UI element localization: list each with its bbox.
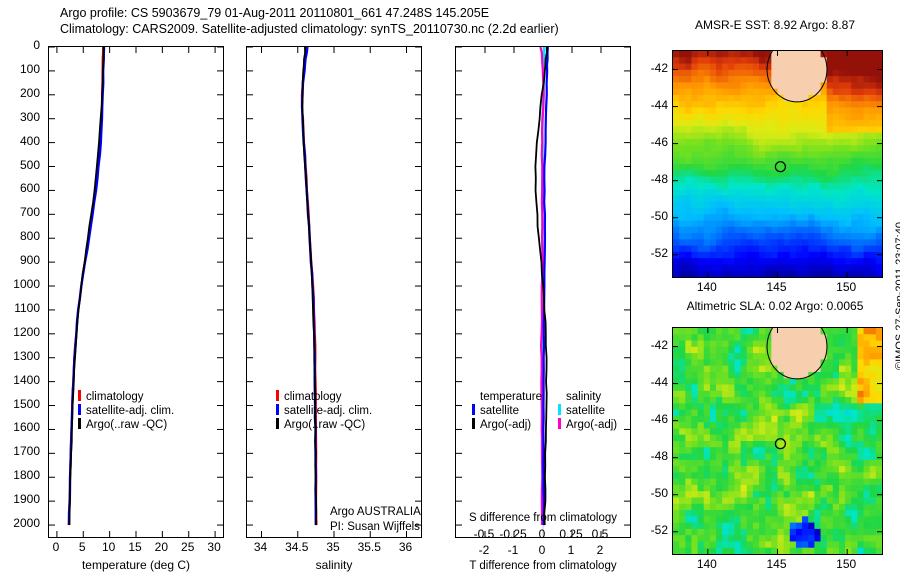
depth-tick-label: 300 (20, 110, 40, 124)
map-lat-tick-label: -48 (651, 172, 668, 186)
temperature-axis-label: temperature (deg C) (48, 558, 224, 572)
legend-item-climatology-sal: climatology (276, 390, 372, 404)
salinity-axis-label: salinity (246, 558, 422, 572)
axis-tick-label: 10 (102, 540, 115, 554)
temperature-xticks: 051015202530 (48, 540, 224, 556)
difference-legend-temperature: temperature satellite Argo(-adj) (472, 390, 542, 432)
axis-tick-label: -1 (508, 543, 519, 557)
depth-tick-label: 0 (33, 38, 40, 52)
legend-swatch-climatology-sal (276, 390, 279, 401)
legend-label-argo-sal: Argo(..raw -QC) (284, 419, 365, 431)
legend-label-satellite-adj: satellite-adj. clim. (86, 405, 174, 417)
legend-swatch-sal-argo (558, 418, 561, 429)
depth-tick-label: 700 (20, 205, 40, 219)
imos-credit: ©IMOS 27-Sep-2011 23:07:40 (894, 370, 900, 382)
legend-item-argo-sal: Argo(..raw -QC) (276, 418, 372, 432)
depth-tick-label: 1700 (13, 444, 40, 458)
legend-item-sal-argo: Argo(-adj) (558, 418, 617, 432)
legend-label-temp-argo: Argo(-adj) (480, 419, 531, 431)
sla-map (672, 327, 883, 555)
sla-map-title: Altimetric SLA: 0.02 Argo: 0.0065 (660, 299, 890, 313)
axis-tick-label: 35 (326, 540, 339, 554)
sst-map (672, 50, 883, 278)
axis-tick-label: 20 (155, 540, 168, 554)
map-lat-tick-label: -52 (651, 246, 668, 260)
legend-item-temp-satellite: satellite (472, 404, 542, 418)
map-lon-tick-label: 150 (836, 557, 856, 571)
legend-item-temp-argo: Argo(-adj) (472, 418, 542, 432)
legend-label-argo: Argo(..raw -QC) (86, 419, 167, 431)
legend-label-climatology-sal: climatology (284, 391, 342, 403)
salinity-panel (246, 46, 422, 538)
argo-australia-credit: Argo AUSTRALIA PI: Susan Wijffels (330, 505, 421, 535)
map-lon-tick-label: 140 (697, 280, 717, 294)
axis-tick-label: -2 (479, 543, 490, 557)
sst-map-xticks: 140145150 (672, 280, 883, 296)
depth-tick-label: 1000 (13, 277, 40, 291)
principal-investigator-label: PI: Susan Wijffels (330, 520, 421, 535)
page-title-line2: Climatology: CARS2009. Satellite-adjuste… (60, 22, 559, 36)
depth-tick-label: 500 (20, 158, 40, 172)
difference-xticks-bottom: -2-1012 (455, 543, 631, 558)
axis-tick-label: 0 (53, 540, 60, 554)
map-lat-tick-label: -46 (651, 135, 668, 149)
map-lat-tick-label: -52 (651, 523, 668, 537)
depth-tick-label: 2000 (13, 516, 40, 530)
legend-swatch-satellite-adj (78, 404, 81, 415)
map-lon-tick-label: 145 (766, 280, 786, 294)
map-lat-tick-label: -50 (651, 486, 668, 500)
depth-tick-label: 800 (20, 229, 40, 243)
imos-credit-text: ©IMOS 27-Sep-2011 23:07:40 (894, 222, 900, 370)
depth-tick-label: 1600 (13, 420, 40, 434)
temperature-legend: climatology satellite-adj. clim. Argo(..… (78, 390, 174, 432)
axis-tick-label: 25 (181, 540, 194, 554)
axis-tick-label: 15 (128, 540, 141, 554)
legend-swatch-satellite-adj-sal (276, 404, 279, 415)
depth-tick-label: 100 (20, 62, 40, 76)
map-lon-tick-label: 150 (836, 280, 856, 294)
map-lat-tick-label: -46 (651, 412, 668, 426)
legend-item-sal-satellite: satellite (558, 404, 617, 418)
axis-tick-label: 0 (539, 543, 546, 557)
axis-tick-label: 0.5 (592, 527, 609, 541)
temperature-depth-ticks: 0100200300400500600700800900100011001200… (0, 46, 46, 538)
sla-map-xticks: 140145150 (672, 557, 883, 573)
depth-tick-label: 1900 (13, 492, 40, 506)
axis-tick-label: 2 (597, 543, 604, 557)
axis-tick-label: 34.5 (285, 540, 308, 554)
legend-label-sal-argo: Argo(-adj) (566, 419, 617, 431)
sst-map-title: AMSR-E SST: 8.92 Argo: 8.87 (660, 18, 890, 32)
temperature-plot-area (49, 47, 223, 537)
legend-swatch-climatology (78, 390, 81, 401)
axis-tick-label: 36 (399, 540, 412, 554)
legend-label-temp-satellite: satellite (480, 405, 519, 417)
difference-legend-salinity: salinity satellite Argo(-adj) (558, 390, 617, 432)
salinity-xticks: 3434.53535.536 (246, 540, 422, 556)
difference-plot-area (456, 47, 630, 537)
temperature-difference-axis-label: T difference from climatology (447, 560, 639, 572)
legend-label-sal-satellite: satellite (566, 405, 605, 417)
axis-tick-label: -0.5 (474, 527, 495, 541)
difference-panel (455, 46, 631, 538)
map-lat-tick-label: -48 (651, 449, 668, 463)
map-lat-tick-label: -42 (651, 338, 668, 352)
legend-label-satellite-adj-sal: satellite-adj. clim. (284, 405, 372, 417)
argo-australia-label: Argo AUSTRALIA (330, 505, 421, 520)
salinity-legend: climatology satellite-adj. clim. Argo(..… (276, 390, 372, 432)
sst-map-yticks: -42-44-46-48-50-52 (640, 50, 670, 278)
axis-tick-label: 34 (254, 540, 267, 554)
legend-swatch-sal-satellite (558, 404, 561, 415)
legend-item-climatology: climatology (78, 390, 174, 404)
difference-xticks-top: -0.5-0.2500.250.5 (455, 527, 631, 542)
map-lat-tick-label: -42 (651, 61, 668, 75)
legend-item-argo: Argo(..raw -QC) (78, 418, 174, 432)
axis-tick-label: 30 (207, 540, 220, 554)
map-lat-tick-label: -50 (651, 209, 668, 223)
depth-tick-label: 1400 (13, 373, 40, 387)
map-lon-tick-label: 145 (766, 557, 786, 571)
legend-swatch-argo (78, 418, 81, 429)
sla-map-yticks: -42-44-46-48-50-52 (640, 327, 670, 555)
axis-tick-label: -0.25 (499, 527, 526, 541)
temperature-panel (48, 46, 224, 538)
depth-tick-label: 1100 (14, 301, 40, 315)
depth-tick-label: 1800 (13, 468, 40, 482)
depth-tick-label: 400 (20, 134, 40, 148)
depth-tick-label: 1200 (13, 325, 40, 339)
sst-map-canvas (673, 51, 882, 277)
depth-tick-label: 900 (20, 253, 40, 267)
legend-label-climatology: climatology (86, 391, 144, 403)
map-lat-tick-label: -44 (651, 375, 668, 389)
map-lat-tick-label: -44 (651, 98, 668, 112)
legend-header-salinity: salinity (566, 390, 617, 404)
legend-swatch-argo-sal (276, 418, 279, 429)
legend-item-satellite-adj-sal: satellite-adj. clim. (276, 404, 372, 418)
page-title-line1: Argo profile: CS 5903679_79 01-Aug-2011 … (60, 6, 489, 20)
map-lon-tick-label: 140 (697, 557, 717, 571)
axis-tick-label: 5 (79, 540, 86, 554)
legend-header-temperature: temperature (480, 390, 542, 404)
depth-tick-label: 1300 (13, 349, 40, 363)
salinity-plot-area (247, 47, 421, 537)
axis-tick-label: 1 (568, 543, 575, 557)
depth-tick-label: 1500 (13, 397, 40, 411)
legend-swatch-temp-argo (472, 418, 475, 429)
axis-tick-label: 0.25 (559, 527, 582, 541)
legend-item-satellite-adj: satellite-adj. clim. (78, 404, 174, 418)
legend-swatch-temp-satellite (472, 404, 475, 415)
depth-tick-label: 200 (20, 86, 40, 100)
axis-tick-label: 0 (539, 527, 546, 541)
depth-tick-label: 600 (20, 181, 40, 195)
axis-tick-label: 35.5 (358, 540, 381, 554)
salinity-difference-axis-label: S difference from climatology (455, 512, 631, 524)
sla-map-canvas (673, 328, 882, 554)
